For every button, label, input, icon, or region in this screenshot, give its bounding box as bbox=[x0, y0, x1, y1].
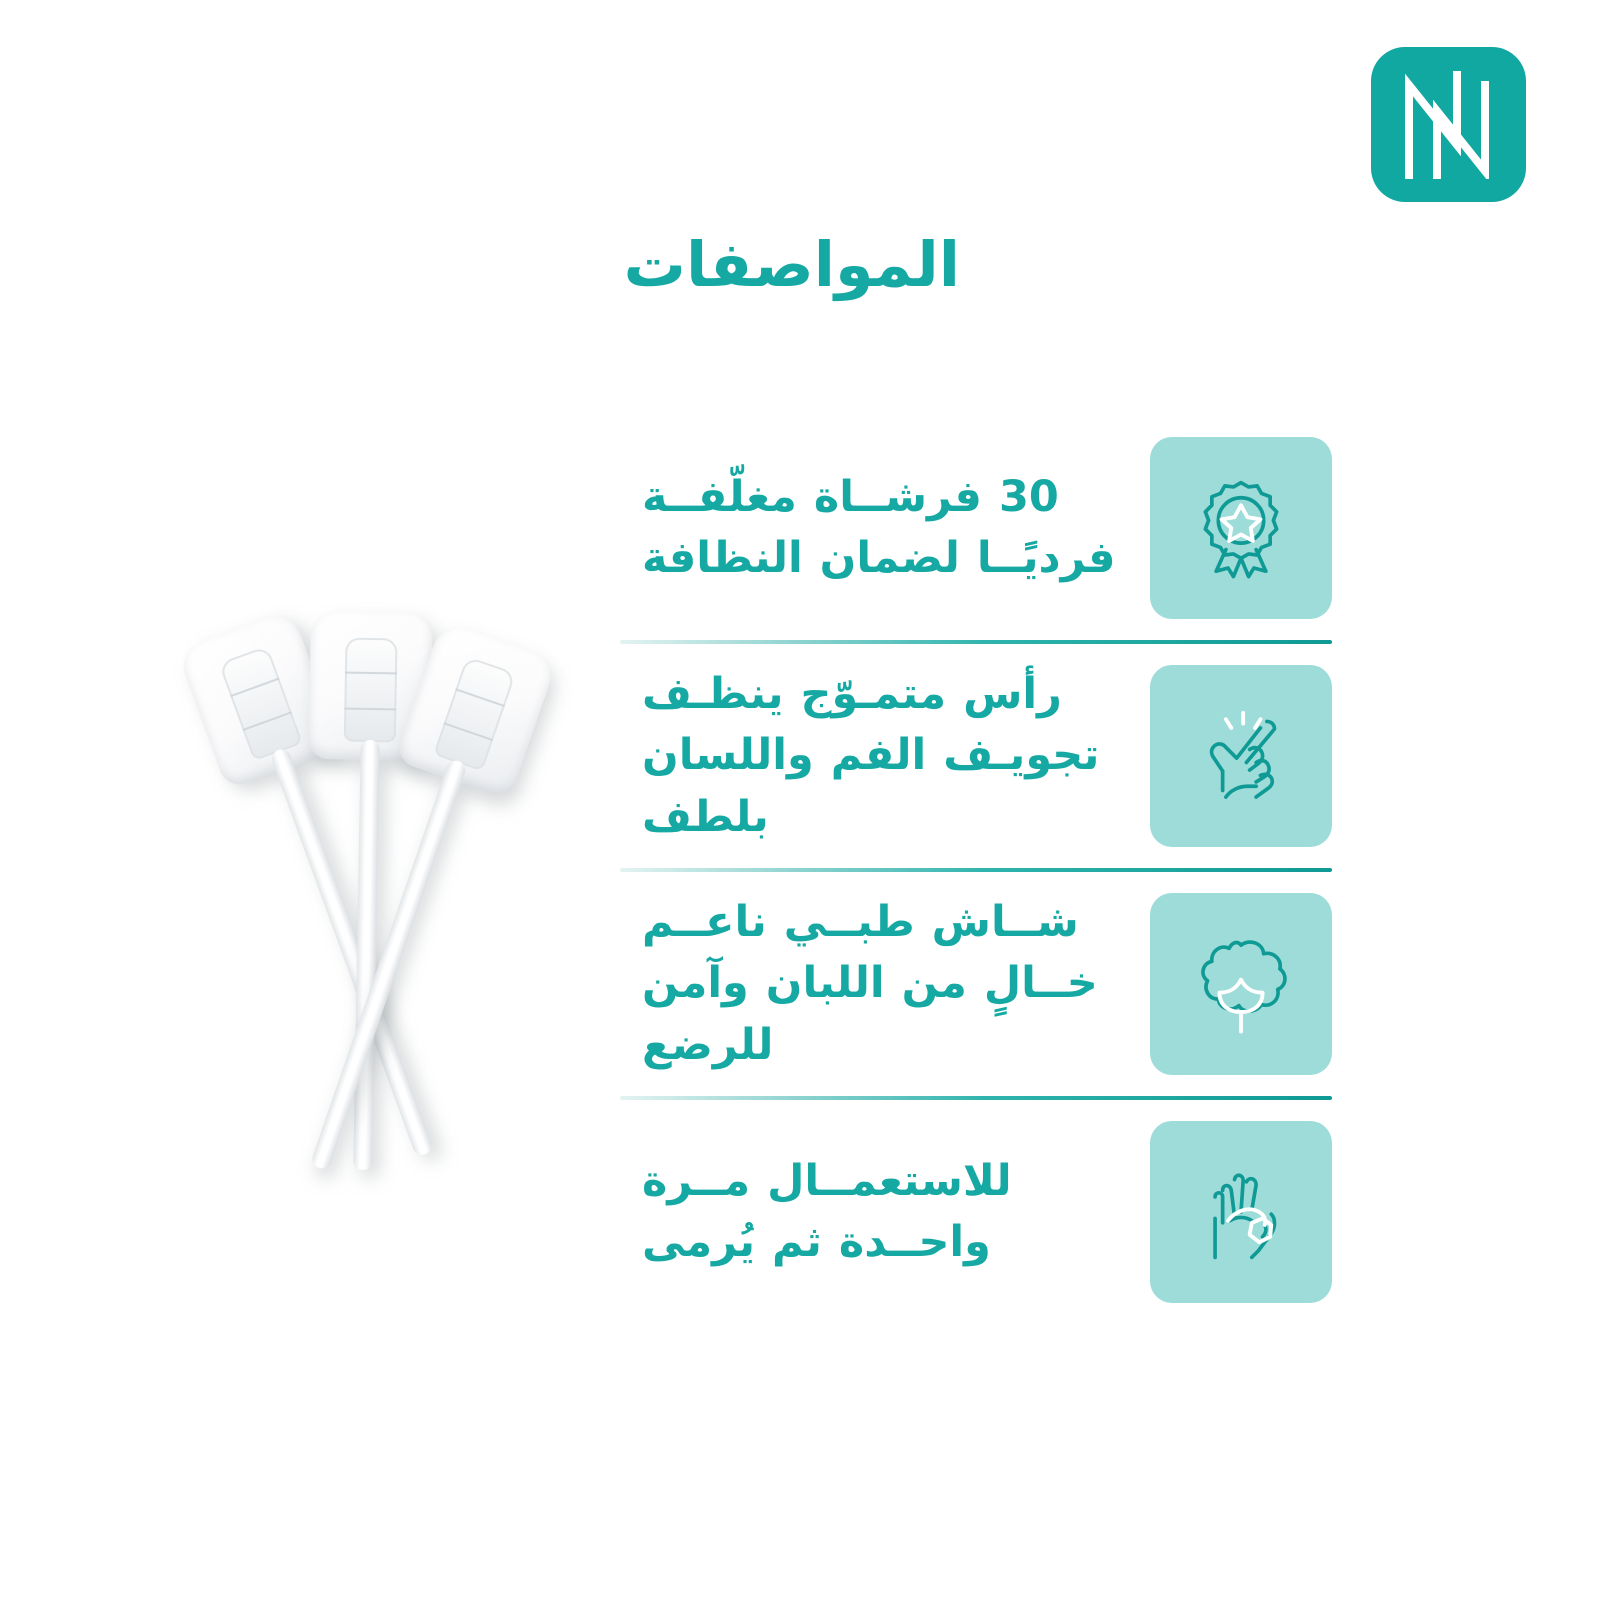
spec-text: شــاش طبــي ناعــم خــالٍ من اللبان وآمن… bbox=[620, 892, 1150, 1075]
spec-row: شــاش طبــي ناعــم خــالٍ من اللبان وآمن… bbox=[620, 886, 1332, 1082]
spec-divider bbox=[620, 1096, 1332, 1100]
spec-divider bbox=[620, 868, 1332, 872]
spec-text: رأس متمـوّج ينظـف تجويـف الفم واللسان بل… bbox=[620, 664, 1150, 847]
spec-icon-tile bbox=[1150, 665, 1332, 847]
page-title: المواصفات bbox=[624, 232, 960, 297]
spec-icon-tile bbox=[1150, 893, 1332, 1075]
product-image-swab-sticks bbox=[232, 612, 632, 1192]
nn-monogram-logo-icon bbox=[1395, 71, 1503, 179]
spec-text: للاستعمــال مــرة واحــدة ثم يُرمى bbox=[620, 1151, 1150, 1273]
swab-handle bbox=[309, 758, 467, 1171]
brand-logo bbox=[1371, 47, 1526, 202]
specifications-list: 30 فرشــاة مغلّفــة فرديًــا لضمان النظا… bbox=[620, 430, 1332, 1310]
swab-handle bbox=[353, 740, 380, 1170]
spec-icon-tile bbox=[1150, 437, 1332, 619]
spec-icon-tile bbox=[1150, 1121, 1332, 1303]
spec-divider bbox=[620, 640, 1332, 644]
spec-row: 30 فرشــاة مغلّفــة فرديًــا لضمان النظا… bbox=[620, 430, 1332, 626]
pointing-hand-sparkle-icon bbox=[1187, 702, 1295, 810]
pinching-hand-single-use-icon bbox=[1187, 1158, 1295, 1266]
spec-text: 30 فرشــاة مغلّفــة فرديًــا لضمان النظا… bbox=[620, 467, 1150, 589]
spec-row: للاستعمــال مــرة واحــدة ثم يُرمى bbox=[620, 1114, 1332, 1310]
cotton-boll-icon bbox=[1187, 930, 1295, 1038]
spec-row: رأس متمـوّج ينظـف تجويـف الفم واللسان بل… bbox=[620, 658, 1332, 854]
award-badge-ribbon-icon bbox=[1187, 474, 1295, 582]
